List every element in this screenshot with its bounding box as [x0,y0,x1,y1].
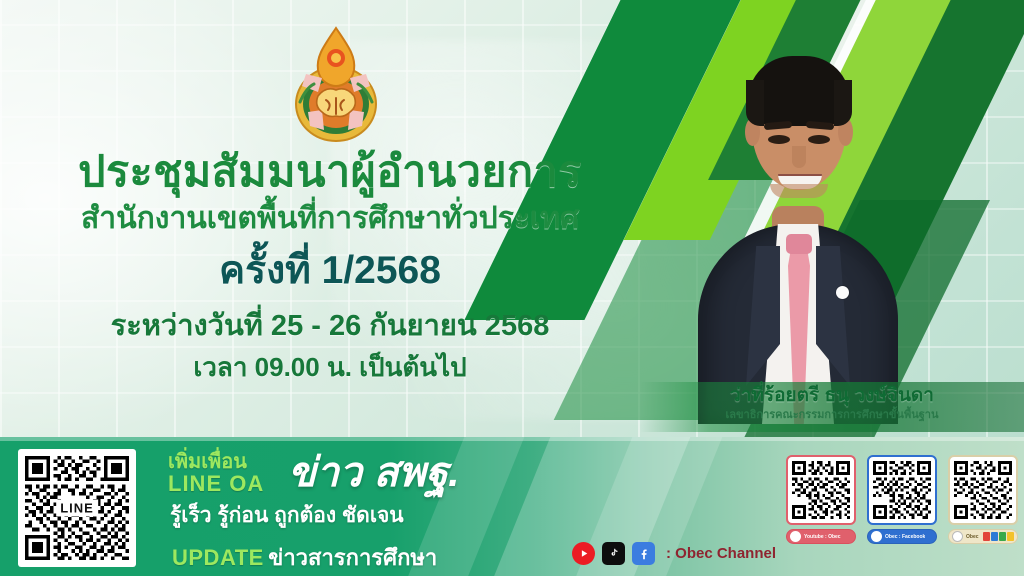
tiktok-icon[interactable] [602,542,625,565]
app-store-badges [983,532,1014,541]
portrait-hair-side-right [834,80,852,126]
round-number: ครั้งที่ 1/2568 [0,250,660,293]
event-time: เวลา 09.00 น. เป็นต้นไป [0,352,660,383]
facebook-icon[interactable] [632,542,655,565]
event-date: ระหว่างวันที่ 25 - 26 กันยายน 2568 [0,309,660,344]
badge-blue [991,532,998,541]
facebook-pill-icon [871,531,882,542]
news-headline-label: ข่าว สพฐ. [288,452,460,493]
speaker-name: ว่าที่ร้อยตรี ธนุ วงษ์จินดา [640,384,1024,408]
facebook-qr-pill: Obec : Facebook [867,529,937,544]
badge-red [983,532,990,541]
portrait-eye-left [768,135,790,144]
portrait-eye-right [808,135,830,144]
line-qr-code[interactable]: LINE [18,449,136,567]
youtube-qr[interactable] [786,455,856,525]
badge-yellow [1007,532,1014,541]
youtube-icon[interactable] [572,542,595,565]
portrait-chin [770,184,828,198]
banner-tagline: รู้เร็ว รู้ก่อน ถูกต้อง ชัดเจน [170,505,404,526]
qr-card-facebook[interactable]: Obec : Facebook [867,455,937,544]
speaker-nameplate: ว่าที่ร้อยตรี ธนุ วงษ์จินดา เลขาธิการคณะ… [640,382,1024,432]
social-links-row: : Obec Channel [572,542,776,565]
youtube-pill-icon [790,531,801,542]
headline-block: ประชุมสัมมนาผู้อำนวยการ สำนักงานเขตพื้นท… [0,150,660,383]
speaker-portrait [690,18,905,418]
portrait-nose [792,146,806,168]
phone-icon [952,531,963,542]
update-row: UPDATE ข่าวสารการศึกษา [172,540,437,575]
qr-card-youtube[interactable]: Youtube : Obec [786,455,856,544]
speaker-role: เลขาธิการคณะกรรมการการศึกษาขั้นพื้นฐาน [640,408,1024,422]
youtube-qr-pill: Youtube : Obec [786,529,856,544]
update-subject: ข่าวสารการศึกษา [268,545,437,570]
app-pill-label: Obec Office [966,534,980,540]
app-qr[interactable] [948,455,1018,525]
app-qr-pill: Obec Office [948,529,1018,544]
portrait-tie-knot [786,234,812,254]
portrait-lapel-pin [836,286,849,299]
portrait-hair-side-left [746,80,764,126]
line-qr-canvas: LINE [25,456,129,560]
obec-emblem-icon [278,12,394,144]
qr-code-group: Youtube : Obec [786,455,1018,544]
qr-card-app[interactable]: Obec Office [948,455,1018,544]
title-line-2: สำนักงานเขตพื้นที่การศึกษาทั่วประเทศ [0,202,660,237]
poster-root: ประชุมสัมมนาผู้อำนวยการ สำนักงานเขตพื้นท… [0,0,1024,576]
badge-green [999,532,1006,541]
youtube-pill-label: Youtube : Obec [804,534,841,540]
update-keyword: UPDATE [172,545,264,570]
social-channel-label: : Obec Channel [666,545,776,562]
facebook-qr[interactable] [867,455,937,525]
facebook-pill-label: Obec : Facebook [885,534,925,540]
line-qr-center-label: LINE [56,500,98,517]
title-line-1: ประชุมสัมมนาผู้อำนวยการ [0,150,660,196]
